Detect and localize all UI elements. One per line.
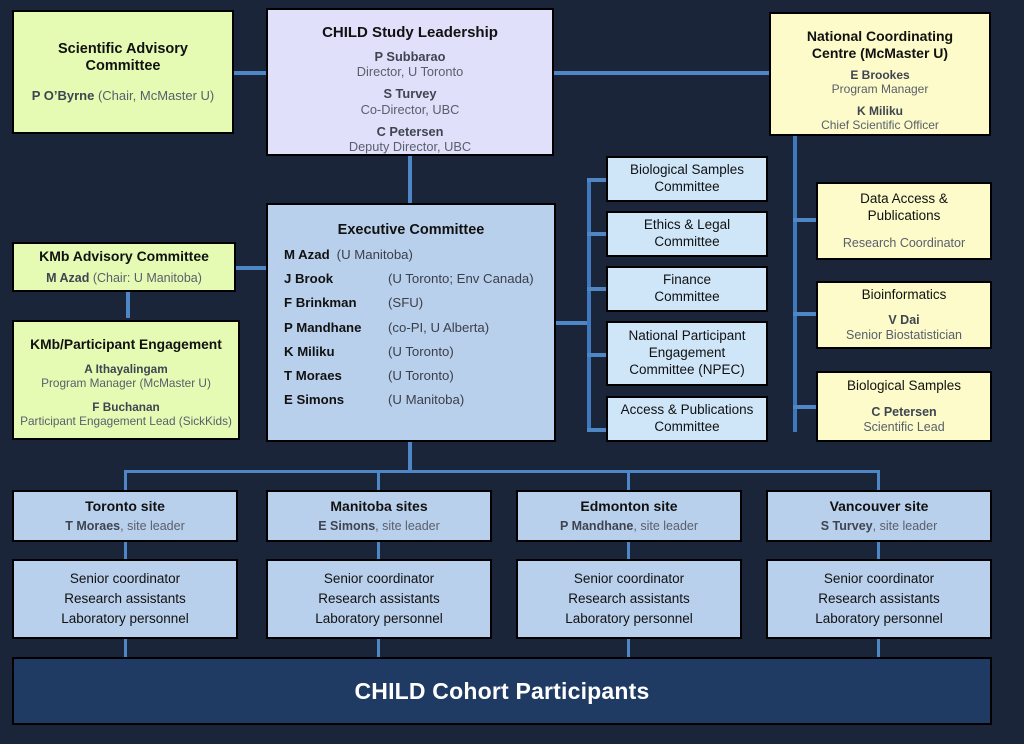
exec-member-affiliation: (U Manitoba) — [388, 393, 464, 406]
committee-1-line1: Biological Samples — [630, 162, 744, 177]
participants-banner-label: CHILD Cohort Participants — [354, 678, 649, 705]
connector-kmb-to-exec — [232, 266, 270, 270]
committee-2-line1: Ethics & Legal — [644, 217, 730, 232]
box-site-staff-manitoba[interactable]: Senior coordinator Research assistants L… — [266, 559, 492, 639]
sites-distribution-bar — [124, 470, 880, 473]
box-site-toronto[interactable]: Toronto site T Moraes, site leader — [12, 490, 238, 542]
connector-bar-to-manitoba — [377, 470, 380, 491]
site-3-leader-role: , site leader — [633, 519, 698, 533]
ncc-unit-3-person-role: Scientific Lead — [863, 420, 944, 434]
kmb-engagement-person-1-role: Program Manager (McMaster U) — [41, 376, 211, 390]
connector-edmonton-to-staff — [627, 542, 630, 560]
ncc-unit-1-title-line1: Data Access & — [860, 191, 948, 206]
box-kmb-participant-engagement[interactable]: KMb/Participant Engagement A Ithayalinga… — [12, 320, 240, 440]
leadership-person-3-role: Deputy Director, UBC — [349, 139, 471, 154]
ncc-unit-2-title-line1: Bioinformatics — [862, 287, 947, 302]
ncc-person-2-role: Chief Scientific Officer — [821, 118, 939, 132]
site-2-name: Manitoba sites — [330, 498, 427, 515]
ncc-unit-1-person-role: Research Coordinator — [843, 236, 965, 250]
ncc-trunk-vertical — [793, 136, 797, 432]
kmb-advisory-member-detail: (Chair: U Manitoba) — [93, 271, 202, 285]
connector-leadership-to-exec — [408, 155, 412, 205]
site-1-leader-role: , site leader — [120, 519, 185, 533]
ncc-unit-1-title-line2: Publications — [868, 208, 941, 223]
ncc-unit-3-person-name: C Petersen — [871, 405, 936, 419]
site-3-leader-name: P Mandhane — [560, 519, 633, 533]
connector-leadership-to-ncc — [552, 71, 774, 75]
exec-member-row: M Azad (U Manitoba) — [284, 248, 554, 261]
site-2-leader-role: , site leader — [375, 519, 440, 533]
exec-member-name: K Miliku — [284, 345, 388, 358]
connector-manitoba-to-staff — [377, 542, 380, 560]
connector-bar-to-vancouver — [877, 470, 880, 491]
box-kmb-advisory-committee[interactable]: KMb Advisory Committee M Azad (Chair: U … — [12, 242, 236, 292]
connector-exec-to-committee-trunk — [556, 321, 590, 325]
org-chart-canvas: Scientific Advisory Committee P O’Byrne … — [0, 0, 1024, 744]
exec-member-row: P Mandhane (co-PI, U Alberta) — [284, 321, 554, 334]
exec-member-name: P Mandhane — [284, 321, 388, 334]
site-staff-line3: Laboratory personnel — [815, 611, 943, 626]
leadership-person-2-name: S Turvey — [383, 86, 436, 101]
ncc-person-1-role: Program Manager — [832, 82, 929, 96]
committee-3-line2: Committee — [654, 289, 719, 304]
leadership-person-1-role: Director, U Toronto — [357, 64, 463, 79]
box-site-staff-vancouver[interactable]: Senior coordinator Research assistants L… — [766, 559, 992, 639]
box-site-manitoba[interactable]: Manitoba sites E Simons, site leader — [266, 490, 492, 542]
committee-4-line1: National Participant — [628, 328, 745, 343]
leadership-person-1-name: P Subbarao — [375, 49, 446, 64]
connector-bar-to-edmonton — [627, 470, 630, 491]
connector-kmb-advisory-to-engagement — [126, 290, 130, 318]
sac-member-name: P O’Byrne — [32, 88, 95, 103]
site-staff-line1: Senior coordinator — [574, 571, 684, 586]
committee-5-line1: Access & Publications — [621, 402, 754, 417]
site-4-name: Vancouver site — [830, 498, 929, 515]
site-4-leader-role: , site leader — [873, 519, 938, 533]
site-1-name: Toronto site — [85, 498, 165, 515]
exec-member-name: E Simons — [284, 393, 388, 406]
box-national-coordinating-centre[interactable]: National Coordinating Centre (McMaster U… — [769, 12, 991, 136]
leadership-title: CHILD Study Leadership — [322, 24, 498, 42]
kmb-engagement-person-2-role: Participant Engagement Lead (SickKids) — [20, 414, 232, 428]
ncc-unit-2-person-role: Senior Biostatistician — [846, 328, 962, 342]
exec-member-name: M Azad — [284, 248, 330, 261]
site-staff-line3: Laboratory personnel — [315, 611, 443, 626]
exec-member-affiliation: (co-PI, U Alberta) — [388, 321, 489, 334]
exec-member-row: F Brinkman (SFU) — [284, 296, 554, 309]
box-finance-committee[interactable]: Finance Committee — [606, 266, 768, 312]
committee-3-line1: Finance — [663, 272, 711, 287]
committee-1-line2: Committee — [654, 179, 719, 194]
site-staff-line3: Laboratory personnel — [61, 611, 189, 626]
box-child-cohort-participants[interactable]: CHILD Cohort Participants — [12, 657, 992, 725]
exec-member-affiliation: (U Toronto) — [388, 345, 454, 358]
committee-5-line2: Committee — [654, 419, 719, 434]
exec-member-row: T Moraes (U Toronto) — [284, 369, 554, 382]
ncc-title-line1: National Coordinating — [807, 28, 953, 44]
ncc-unit-3-title-line1: Biological Samples — [847, 378, 961, 393]
ncc-person-2-name: K Miliku — [857, 104, 903, 118]
box-biological-samples-unit[interactable]: Biological Samples C Petersen Scientific… — [816, 371, 992, 442]
box-scientific-advisory-committee[interactable]: Scientific Advisory Committee P O’Byrne … — [12, 10, 234, 134]
box-access-publications-committee[interactable]: Access & Publications Committee — [606, 396, 768, 442]
connector-vancouver-to-staff — [877, 542, 880, 560]
exec-member-name: F Brinkman — [284, 296, 388, 309]
committee-4-line3: Committee (NPEC) — [629, 362, 745, 377]
leadership-person-3-name: C Petersen — [377, 124, 444, 139]
site-staff-line1: Senior coordinator — [324, 571, 434, 586]
connector-toronto-to-staff — [124, 542, 127, 560]
ncc-unit-2-person-name: V Dai — [888, 313, 919, 327]
site-staff-line3: Laboratory personnel — [565, 611, 693, 626]
connector-exec-to-sites-bus — [408, 440, 412, 473]
site-2-leader-name: E Simons — [318, 519, 375, 533]
committee-2-line2: Committee — [654, 234, 719, 249]
kmb-engagement-title: KMb/Participant Engagement — [30, 337, 222, 353]
box-site-edmonton[interactable]: Edmonton site P Mandhane, site leader — [516, 490, 742, 542]
executive-committee-member-list: M Azad (U Manitoba) J Brook (U Toronto; … — [268, 248, 554, 417]
site-staff-line1: Senior coordinator — [824, 571, 934, 586]
sac-title-line1: Scientific Advisory — [58, 41, 188, 57]
sac-title-line2: Committee — [86, 58, 161, 74]
exec-member-row: E Simons (U Manitoba) — [284, 393, 554, 406]
exec-member-row: K Miliku (U Toronto) — [284, 345, 554, 358]
exec-member-affiliation: (U Toronto; Env Canada) — [388, 272, 534, 285]
site-staff-line2: Research assistants — [818, 591, 940, 606]
box-site-vancouver[interactable]: Vancouver site S Turvey, site leader — [766, 490, 992, 542]
exec-member-row: J Brook (U Toronto; Env Canada) — [284, 272, 554, 285]
exec-member-name: T Moraes — [284, 369, 388, 382]
box-data-access-publications[interactable]: Data Access & Publications Research Coor… — [816, 182, 992, 260]
kmb-engagement-person-2-name: F Buchanan — [92, 400, 160, 414]
site-staff-line2: Research assistants — [64, 591, 186, 606]
site-staff-line2: Research assistants — [568, 591, 690, 606]
exec-member-affiliation: (U Toronto) — [388, 369, 454, 382]
connector-bar-to-toronto — [124, 470, 127, 491]
box-executive-committee[interactable]: Executive Committee M Azad (U Manitoba) … — [266, 203, 556, 442]
committee-trunk-vertical — [587, 180, 591, 432]
leadership-person-2-role: Co-Director, UBC — [361, 102, 460, 117]
box-bioinformatics[interactable]: Bioinformatics V Dai Senior Biostatistic… — [816, 281, 992, 349]
site-staff-line2: Research assistants — [318, 591, 440, 606]
site-3-name: Edmonton site — [580, 498, 677, 515]
exec-member-name: J Brook — [284, 272, 388, 285]
kmb-advisory-title: KMb Advisory Committee — [39, 248, 209, 265]
committee-4-line2: Engagement — [649, 345, 726, 360]
box-ethics-legal-committee[interactable]: Ethics & Legal Committee — [606, 211, 768, 257]
sac-member-detail: (Chair, McMaster U) — [98, 88, 214, 103]
exec-member-affiliation: (U Manitoba) — [337, 248, 413, 261]
exec-member-affiliation: (SFU) — [388, 296, 423, 309]
kmb-engagement-person-1-name: A Ithayalingam — [84, 362, 167, 376]
box-biological-samples-committee[interactable]: Biological Samples Committee — [606, 156, 768, 202]
ncc-person-1-name: E Brookes — [850, 68, 909, 82]
site-4-leader-name: S Turvey — [821, 519, 873, 533]
box-site-staff-toronto[interactable]: Senior coordinator Research assistants L… — [12, 559, 238, 639]
site-staff-line1: Senior coordinator — [70, 571, 180, 586]
kmb-advisory-member-name: M Azad — [46, 271, 89, 285]
ncc-title-line2: Centre (McMaster U) — [812, 45, 948, 61]
site-1-leader-name: T Moraes — [65, 519, 120, 533]
box-child-study-leadership[interactable]: CHILD Study Leadership P Subbarao Direct… — [266, 8, 554, 156]
box-national-participant-engagement-committee[interactable]: National Participant Engagement Committe… — [606, 321, 768, 386]
executive-committee-title: Executive Committee — [338, 222, 485, 238]
box-site-staff-edmonton[interactable]: Senior coordinator Research assistants L… — [516, 559, 742, 639]
